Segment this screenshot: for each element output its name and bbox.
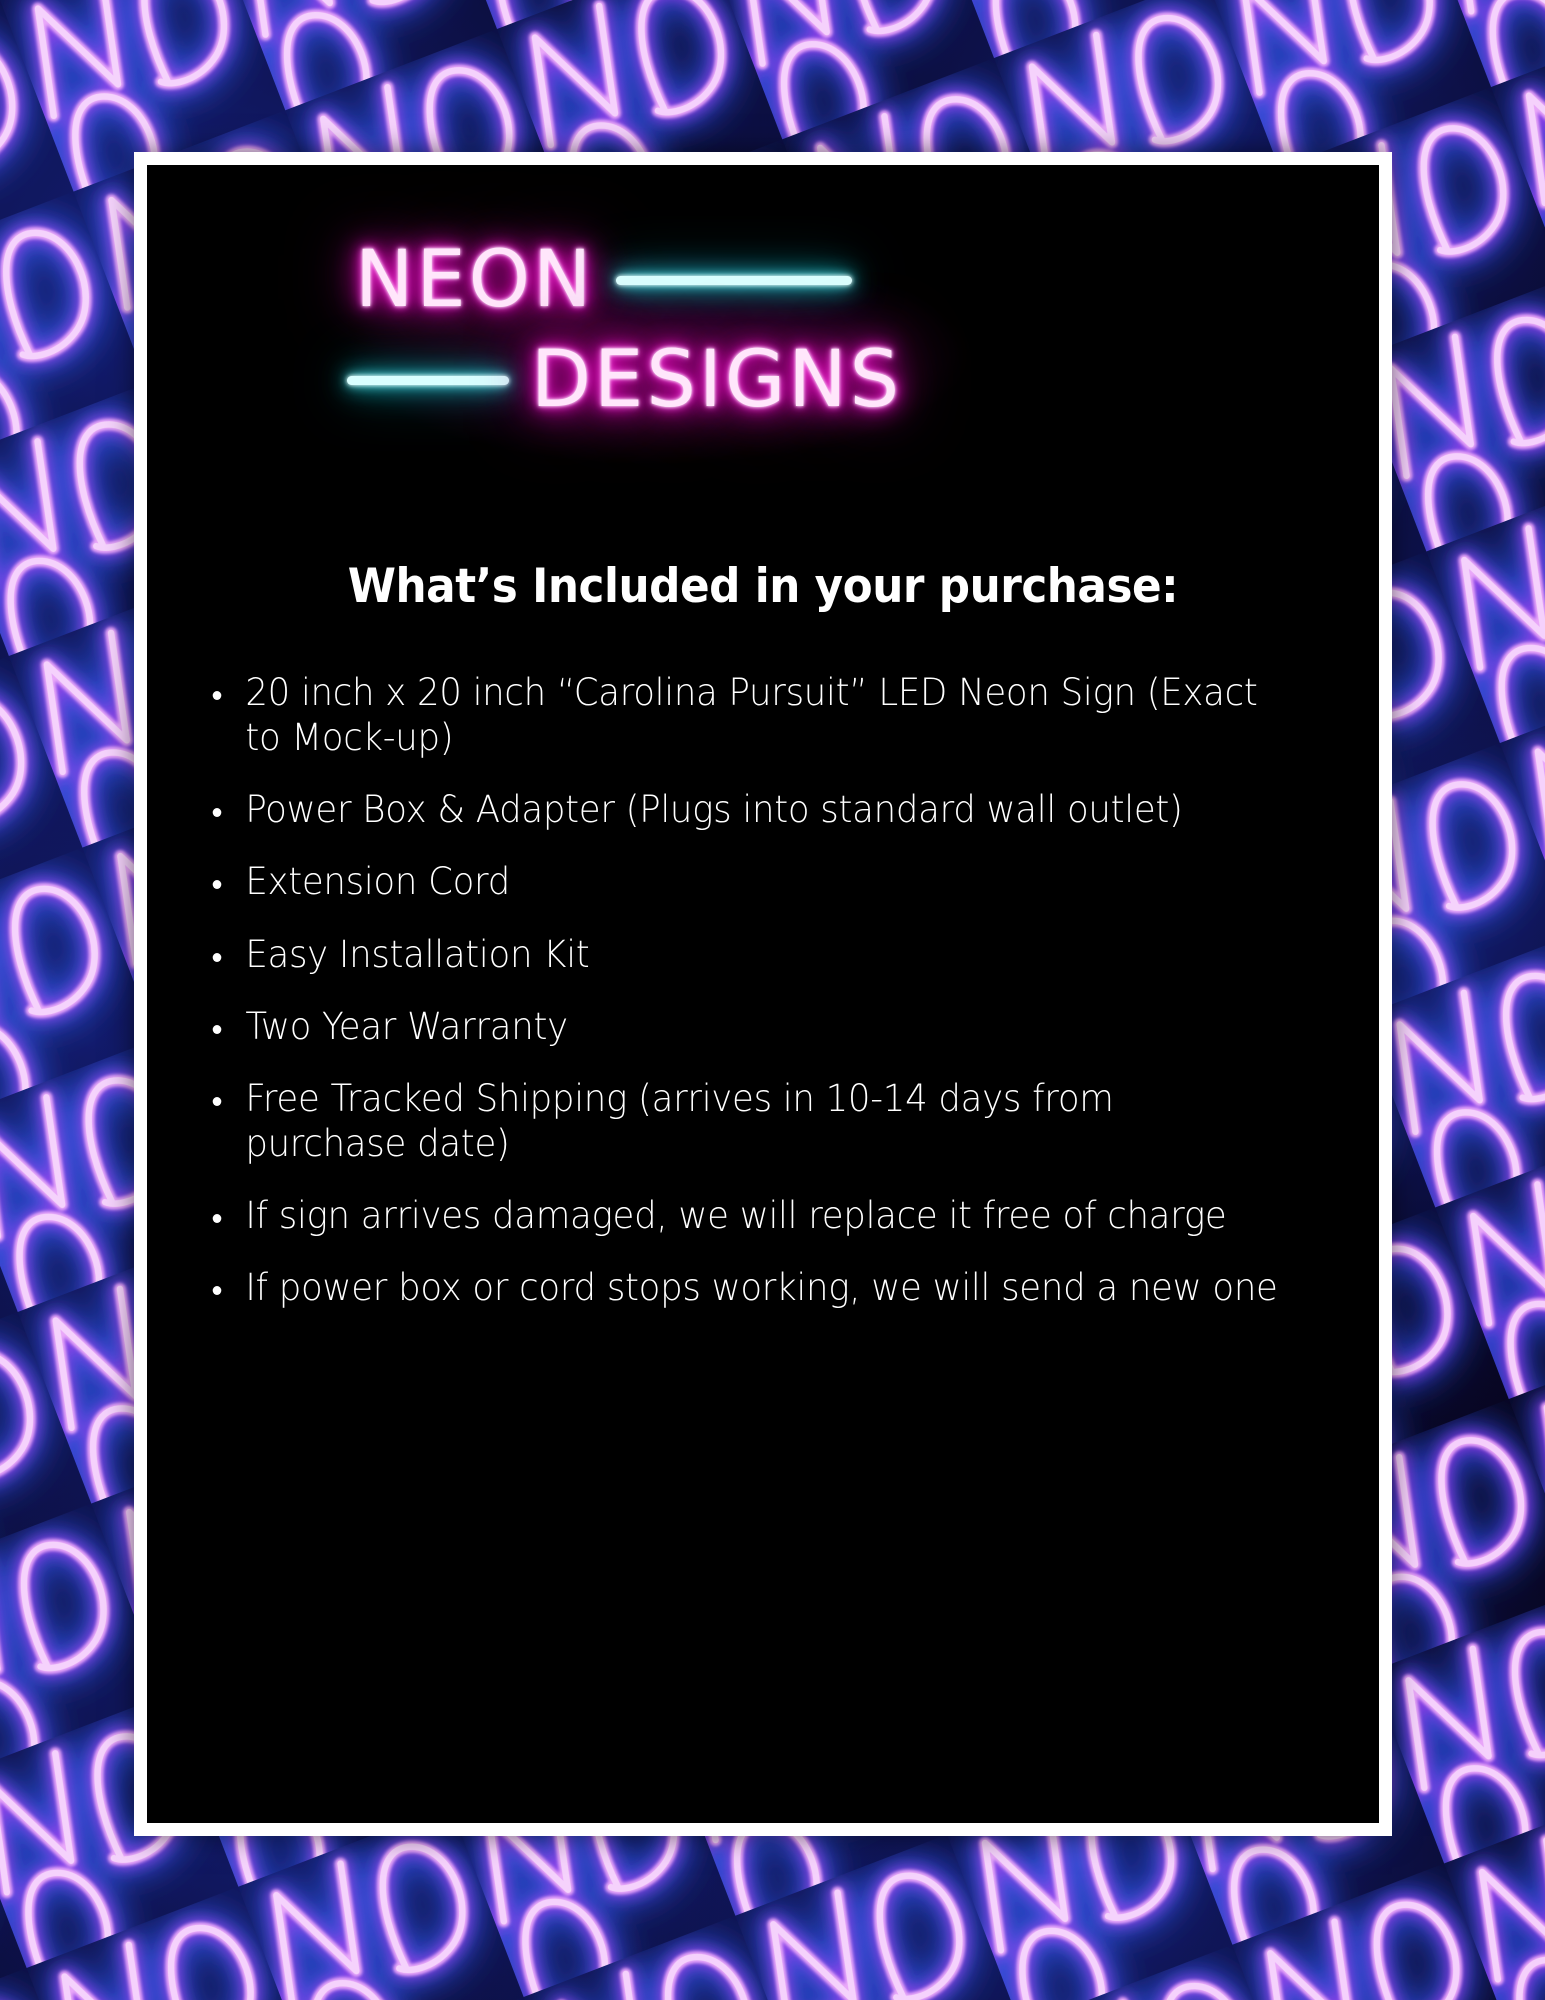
- card-body: NEON DESIGNS What’s Included in your pur…: [147, 165, 1379, 1823]
- cyan-bar-top-icon: [616, 276, 852, 285]
- page-title: What’s Included in your purchase:: [190, 559, 1336, 614]
- list-item: Power Box & Adapter (Plugs into standard…: [205, 787, 1282, 832]
- list-item: Easy Installation Kit: [205, 932, 1282, 977]
- list-item: If power box or cord stops working, we w…: [205, 1265, 1282, 1310]
- list-item: 20 inch x 20 inch “Carolina Pursuit” LED…: [205, 670, 1282, 760]
- list-item: Free Tracked Shipping (arrives in 10-14 …: [205, 1076, 1282, 1166]
- list-item: If sign arrives damaged, we will replace…: [205, 1193, 1282, 1238]
- card-white-frame: NEON DESIGNS What’s Included in your pur…: [134, 152, 1392, 1836]
- cyan-bar-bottom-icon: [347, 376, 509, 385]
- list-item: Two Year Warranty: [205, 1004, 1282, 1049]
- logo-row-top: NEON: [355, 241, 852, 319]
- logo-word-neon: NEON: [355, 241, 594, 319]
- neon-designs-logo: NEON DESIGNS: [147, 231, 1379, 481]
- included-items-list: 20 inch x 20 inch “Carolina Pursuit” LED…: [205, 670, 1327, 1310]
- logo-row-bottom: DESIGNS: [347, 341, 902, 419]
- list-item: Extension Cord: [205, 859, 1282, 904]
- logo-word-designs: DESIGNS: [531, 341, 902, 419]
